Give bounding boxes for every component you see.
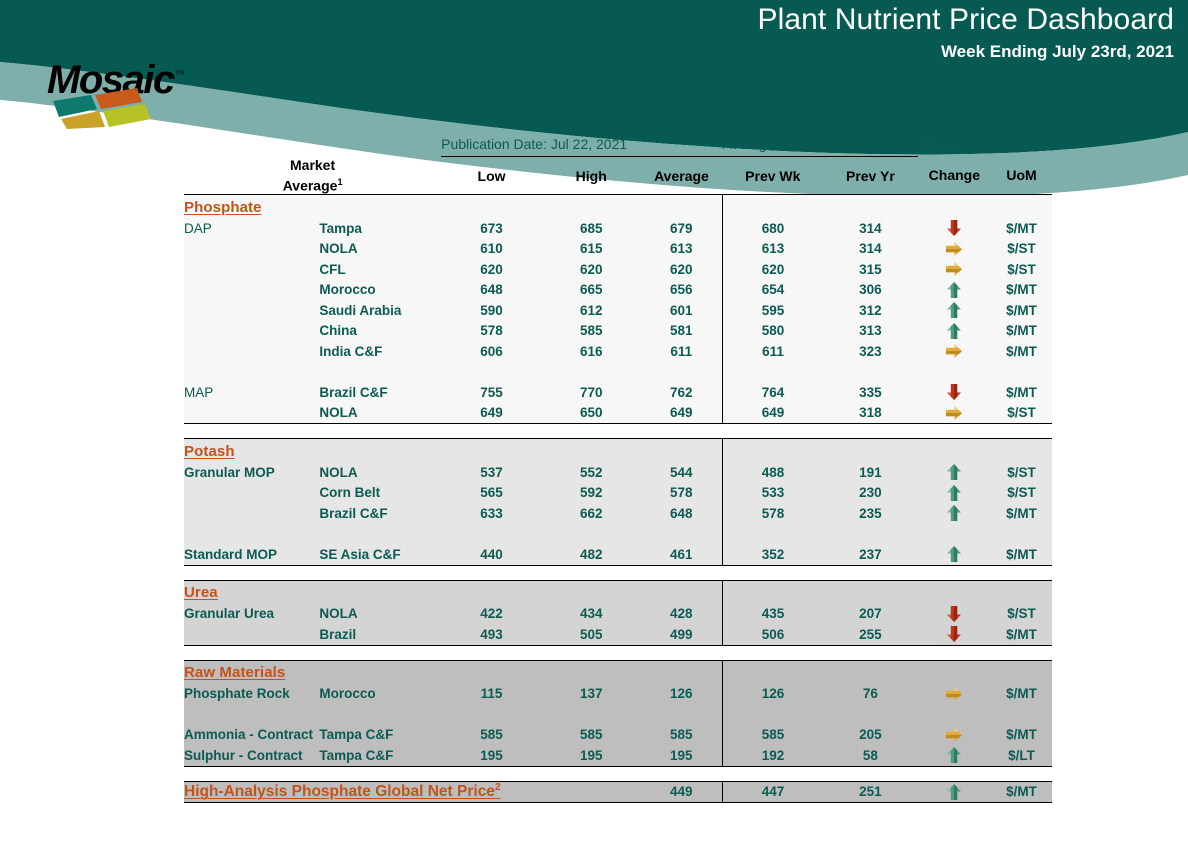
hap-uom: $/MT — [991, 781, 1052, 803]
row-weekly-change — [918, 624, 991, 645]
row-high: 662 — [542, 503, 641, 524]
row-prev-wk: 352 — [722, 544, 823, 565]
row-category — [184, 483, 319, 504]
section-gap — [184, 766, 1052, 781]
row-market: Corn Belt — [319, 483, 441, 504]
row-prev-wk: 620 — [722, 259, 823, 280]
row-uom: $/MT — [991, 280, 1052, 301]
row-uom: $/ST — [991, 239, 1052, 260]
col-header-high: High — [542, 157, 641, 195]
row-market: Brazil C&F — [319, 503, 441, 524]
section-bg-cell — [991, 439, 1052, 463]
hap-prev-wk: 447 — [722, 781, 823, 803]
row-uom: $/MT — [991, 382, 1052, 403]
row-prev-wk: 649 — [722, 403, 823, 424]
section-header-row: Urea — [184, 580, 1052, 604]
row-market: Tampa — [319, 218, 441, 239]
table-row: Ammonia - ContractTampa C&F5855855855852… — [184, 725, 1052, 746]
row-prev-wk: 595 — [722, 300, 823, 321]
row-prev-wk: 585 — [722, 725, 823, 746]
row-prev-yr: 235 — [823, 503, 917, 524]
hap-weekly-change — [918, 781, 991, 803]
row-prev-yr: 205 — [823, 725, 917, 746]
row-average: 428 — [641, 604, 723, 625]
hap-row: High-Analysis Phosphate Global Net Price… — [184, 781, 1052, 803]
row-market: NOLA — [319, 604, 441, 625]
section-title-cell: Potash — [184, 439, 722, 463]
row-average: 679 — [641, 218, 723, 239]
spacer-cell — [991, 132, 1052, 157]
section-bg-cell — [823, 580, 917, 604]
row-high: 585 — [542, 321, 641, 342]
row-prev-yr: 335 — [823, 382, 917, 403]
row-low: 565 — [441, 483, 542, 504]
row-weekly-change — [918, 341, 991, 362]
arrow-right-icon — [945, 404, 963, 422]
row-market: Morocco — [319, 684, 441, 705]
table-row: Saudi Arabia590612601595312$/MT — [184, 300, 1052, 321]
hap-title: High-Analysis Phosphate Global Net Price… — [184, 783, 501, 800]
table-row: Granular MOPNOLA537552544488191$/ST — [184, 462, 1052, 483]
row-low: 620 — [441, 259, 542, 280]
section-title-phosphate: Phosphate — [184, 199, 262, 216]
row-high: 665 — [542, 280, 641, 301]
row-uom: $/ST — [991, 403, 1052, 424]
row-prev-wk: 488 — [722, 462, 823, 483]
section-title-urea: Urea — [184, 584, 218, 601]
gap-cell — [184, 645, 1052, 660]
spacer-cell — [319, 132, 441, 157]
section-bg-cell — [823, 195, 917, 219]
row-uom: $/MT — [991, 300, 1052, 321]
col-header-prev-wk: Prev Wk — [722, 157, 823, 195]
row-prev-yr: 207 — [823, 604, 917, 625]
row-low: 606 — [441, 341, 542, 362]
row-market: NOLA — [319, 239, 441, 260]
row-prev-wk: 613 — [722, 239, 823, 260]
row-high: 592 — [542, 483, 641, 504]
row-average: 499 — [641, 624, 723, 645]
row-prev-yr: 255 — [823, 624, 917, 645]
row-uom: $/LT — [991, 745, 1052, 766]
arrow-down-icon — [945, 383, 963, 401]
row-low: 195 — [441, 745, 542, 766]
row-weekly-change — [918, 684, 991, 705]
row-low: 585 — [441, 725, 542, 746]
row-category — [184, 624, 319, 645]
spacer-cell — [823, 704, 917, 725]
section-header-row: Phosphate — [184, 195, 1052, 219]
row-category — [184, 300, 319, 321]
row-average: 581 — [641, 321, 723, 342]
arrow-right-icon — [945, 685, 963, 703]
section-title-cell: Urea — [184, 580, 722, 604]
table-row: Phosphate RockMorocco11513712612676$/MT — [184, 684, 1052, 705]
row-uom: $/ST — [991, 483, 1052, 504]
row-category — [184, 280, 319, 301]
row-weekly-change — [918, 544, 991, 565]
arrow-up-icon — [945, 484, 963, 502]
section-bg-cell — [918, 439, 991, 463]
row-weekly-change — [918, 745, 991, 766]
row-uom: $/MT — [991, 624, 1052, 645]
row-market: Morocco — [319, 280, 441, 301]
row-weekly-change — [918, 218, 991, 239]
row-prev-yr: 323 — [823, 341, 917, 362]
spacer-cell — [918, 362, 991, 383]
row-uom: $/MT — [991, 684, 1052, 705]
arrow-down-icon — [945, 625, 963, 643]
row-average: 126 — [641, 684, 723, 705]
price-table-sheet: Publication Date: Jul 22, 2021Average vs… — [0, 0, 1188, 863]
spacer-cell — [722, 704, 823, 725]
price-table: Publication Date: Jul 22, 2021Average vs… — [184, 132, 1052, 803]
row-prev-yr: 315 — [823, 259, 917, 280]
table-row: NOLA610615613613314$/ST — [184, 239, 1052, 260]
row-category: Granular MOP — [184, 462, 319, 483]
price-table-body: Publication Date: Jul 22, 2021Average vs… — [184, 132, 1052, 803]
row-market: India C&F — [319, 341, 441, 362]
row-prev-wk: 764 — [722, 382, 823, 403]
table-row: India C&F606616611611323$/MT — [184, 341, 1052, 362]
section-title-cell: Phosphate — [184, 195, 722, 219]
section-bg-cell — [991, 195, 1052, 219]
row-weekly-change — [918, 462, 991, 483]
row-high: 620 — [542, 259, 641, 280]
hap-average: 449 — [641, 781, 723, 803]
row-uom: $/MT — [991, 544, 1052, 565]
row-weekly-change — [918, 239, 991, 260]
market-average-header: MarketAverage1 — [184, 157, 441, 195]
row-low: 422 — [441, 604, 542, 625]
section-header-row: Raw Materials — [184, 660, 1052, 684]
arrow-up-icon — [945, 783, 963, 801]
row-average: 620 — [641, 259, 723, 280]
row-category — [184, 321, 319, 342]
row-prev-wk: 533 — [722, 483, 823, 504]
row-high: 434 — [542, 604, 641, 625]
section-title-raw-materials: Raw Materials — [184, 664, 285, 681]
row-prev-yr: 230 — [823, 483, 917, 504]
spacer-cell — [918, 704, 991, 725]
row-average: 544 — [641, 462, 723, 483]
spacer-row — [184, 362, 1052, 383]
row-average: 578 — [641, 483, 723, 504]
row-prev-yr: 237 — [823, 544, 917, 565]
row-prev-yr: 318 — [823, 403, 917, 424]
section-gap — [184, 424, 1052, 439]
row-weekly-change — [918, 503, 991, 524]
spacer-cell — [991, 362, 1052, 383]
row-weekly-change — [918, 259, 991, 280]
arrow-up-icon — [945, 322, 963, 340]
section-title-cell: Raw Materials — [184, 660, 722, 684]
row-low: 648 — [441, 280, 542, 301]
row-category: Granular Urea — [184, 604, 319, 625]
row-market: Brazil C&F — [319, 382, 441, 403]
table-column-header-row: MarketAverage1LowHighAveragePrev WkPrev … — [184, 157, 1052, 195]
gap-cell — [184, 766, 1052, 781]
spacer-cell — [184, 524, 722, 545]
arrow-right-icon — [945, 342, 963, 360]
row-category — [184, 259, 319, 280]
spacer-row — [184, 704, 1052, 725]
table-row: Morocco648665656654306$/MT — [184, 280, 1052, 301]
section-bg-cell — [722, 660, 823, 684]
spacer-cell — [991, 524, 1052, 545]
section-bg-cell — [722, 195, 823, 219]
row-weekly-change — [918, 321, 991, 342]
row-high: 137 — [542, 684, 641, 705]
row-high: 585 — [542, 725, 641, 746]
gap-cell — [184, 424, 1052, 439]
weekly-header-line1: Weekly — [918, 132, 991, 157]
section-bg-cell — [918, 660, 991, 684]
spacer-cell — [918, 524, 991, 545]
row-low: 493 — [441, 624, 542, 645]
row-uom: $/ST — [991, 462, 1052, 483]
arrow-up-icon — [945, 281, 963, 299]
row-market: Tampa C&F — [319, 745, 441, 766]
arrow-up-icon — [945, 504, 963, 522]
spacer-row — [184, 524, 1052, 545]
row-uom: $/ST — [991, 259, 1052, 280]
section-bg-cell — [918, 580, 991, 604]
arrow-right-icon — [945, 240, 963, 258]
section-header-row: Potash — [184, 439, 1052, 463]
row-prev-yr: 313 — [823, 321, 917, 342]
row-high: 616 — [542, 341, 641, 362]
publication-date-header: Publication Date: Jul 22, 2021 — [441, 132, 722, 157]
row-prev-yr: 312 — [823, 300, 917, 321]
spacer-cell — [722, 524, 823, 545]
row-low: 537 — [441, 462, 542, 483]
table-row: China578585581580313$/MT — [184, 321, 1052, 342]
row-low: 610 — [441, 239, 542, 260]
row-average: 613 — [641, 239, 723, 260]
row-category: DAP — [184, 218, 319, 239]
row-average: 762 — [641, 382, 723, 403]
row-prev-yr: 314 — [823, 239, 917, 260]
row-high: 482 — [542, 544, 641, 565]
col-header-low: Low — [441, 157, 542, 195]
gap-cell — [184, 565, 1052, 580]
row-low: 115 — [441, 684, 542, 705]
row-market: NOLA — [319, 403, 441, 424]
row-average: 649 — [641, 403, 723, 424]
spacer-cell — [722, 362, 823, 383]
row-prev-wk: 580 — [722, 321, 823, 342]
row-category: Sulphur - Contract — [184, 745, 319, 766]
row-high: 685 — [542, 218, 641, 239]
arrow-up-icon — [945, 746, 963, 764]
col-header-uom: UoM — [991, 157, 1052, 195]
table-row: Sulphur - ContractTampa C&F1951951951925… — [184, 745, 1052, 766]
row-prev-yr: 58 — [823, 745, 917, 766]
row-low: 755 — [441, 382, 542, 403]
row-prev-wk: 578 — [722, 503, 823, 524]
row-low: 673 — [441, 218, 542, 239]
row-average: 656 — [641, 280, 723, 301]
col-header-average: Average — [641, 157, 723, 195]
row-high: 612 — [542, 300, 641, 321]
row-prev-yr: 306 — [823, 280, 917, 301]
spacer-cell — [184, 132, 319, 157]
row-average: 461 — [641, 544, 723, 565]
row-category — [184, 403, 319, 424]
section-gap — [184, 565, 1052, 580]
average-vs-header: Average vs. — [722, 132, 917, 157]
row-weekly-change — [918, 604, 991, 625]
table-row: CFL620620620620315$/ST — [184, 259, 1052, 280]
table-group-header-row: Publication Date: Jul 22, 2021Average vs… — [184, 132, 1052, 157]
row-category: Standard MOP — [184, 544, 319, 565]
row-market: Tampa C&F — [319, 725, 441, 746]
table-row: Brazil493505499506255$/MT — [184, 624, 1052, 645]
row-low: 633 — [441, 503, 542, 524]
row-low: 590 — [441, 300, 542, 321]
col-header-prev-yr: Prev Yr — [823, 157, 917, 195]
table-row: Standard MOPSE Asia C&F440482461352237$/… — [184, 544, 1052, 565]
row-high: 615 — [542, 239, 641, 260]
row-weekly-change — [918, 725, 991, 746]
section-bg-cell — [991, 660, 1052, 684]
row-market: China — [319, 321, 441, 342]
row-uom: $/MT — [991, 341, 1052, 362]
table-row: Corn Belt565592578533230$/ST — [184, 483, 1052, 504]
row-category — [184, 239, 319, 260]
row-market: SE Asia C&F — [319, 544, 441, 565]
arrow-down-icon — [945, 219, 963, 237]
row-high: 195 — [542, 745, 641, 766]
row-average: 195 — [641, 745, 723, 766]
row-category — [184, 503, 319, 524]
row-average: 648 — [641, 503, 723, 524]
table-row: Brazil C&F633662648578235$/MT — [184, 503, 1052, 524]
arrow-right-icon — [945, 260, 963, 278]
row-high: 505 — [542, 624, 641, 645]
section-bg-cell — [823, 439, 917, 463]
row-market: Saudi Arabia — [319, 300, 441, 321]
hap-title-cell: High-Analysis Phosphate Global Net Price… — [184, 781, 641, 803]
row-uom: $/MT — [991, 725, 1052, 746]
table-row: MAPBrazil C&F755770762764335$/MT — [184, 382, 1052, 403]
row-high: 770 — [542, 382, 641, 403]
row-uom: $/MT — [991, 503, 1052, 524]
table-row: NOLA649650649649318$/ST — [184, 403, 1052, 424]
col-header-change: Change — [918, 157, 991, 195]
row-category: Phosphate Rock — [184, 684, 319, 705]
row-average: 585 — [641, 725, 723, 746]
row-prev-wk: 126 — [722, 684, 823, 705]
spacer-cell — [823, 362, 917, 383]
arrow-right-icon — [945, 726, 963, 744]
section-bg-cell — [823, 660, 917, 684]
row-market: NOLA — [319, 462, 441, 483]
arrow-down-icon — [945, 605, 963, 623]
row-category: MAP — [184, 382, 319, 403]
spacer-cell — [184, 704, 722, 725]
hap-prev-yr: 251 — [823, 781, 917, 803]
table-row: DAPTampa673685679680314$/MT — [184, 218, 1052, 239]
arrow-up-icon — [945, 545, 963, 563]
row-prev-yr: 191 — [823, 462, 917, 483]
row-uom: $/MT — [991, 321, 1052, 342]
arrow-up-icon — [945, 301, 963, 319]
row-uom: $/MT — [991, 218, 1052, 239]
arrow-up-icon — [945, 463, 963, 481]
row-average: 601 — [641, 300, 723, 321]
row-weekly-change — [918, 280, 991, 301]
row-prev-yr: 76 — [823, 684, 917, 705]
section-title-potash: Potash — [184, 443, 235, 460]
row-high: 552 — [542, 462, 641, 483]
section-bg-cell — [991, 580, 1052, 604]
row-prev-wk: 192 — [722, 745, 823, 766]
section-bg-cell — [722, 580, 823, 604]
row-high: 650 — [542, 403, 641, 424]
table-row: Granular UreaNOLA422434428435207$/ST — [184, 604, 1052, 625]
row-category: Ammonia - Contract — [184, 725, 319, 746]
spacer-cell — [184, 362, 722, 383]
section-bg-cell — [918, 195, 991, 219]
row-weekly-change — [918, 483, 991, 504]
spacer-cell — [991, 704, 1052, 725]
row-prev-yr: 314 — [823, 218, 917, 239]
row-low: 578 — [441, 321, 542, 342]
row-prev-wk: 435 — [722, 604, 823, 625]
row-low: 649 — [441, 403, 542, 424]
row-prev-wk: 611 — [722, 341, 823, 362]
row-market: CFL — [319, 259, 441, 280]
row-prev-wk: 654 — [722, 280, 823, 301]
row-weekly-change — [918, 300, 991, 321]
section-gap — [184, 645, 1052, 660]
section-bg-cell — [722, 439, 823, 463]
row-prev-wk: 680 — [722, 218, 823, 239]
row-weekly-change — [918, 382, 991, 403]
spacer-cell — [823, 524, 917, 545]
row-category — [184, 341, 319, 362]
row-market: Brazil — [319, 624, 441, 645]
row-uom: $/ST — [991, 604, 1052, 625]
row-low: 440 — [441, 544, 542, 565]
row-prev-wk: 506 — [722, 624, 823, 645]
row-average: 611 — [641, 341, 723, 362]
row-weekly-change — [918, 403, 991, 424]
